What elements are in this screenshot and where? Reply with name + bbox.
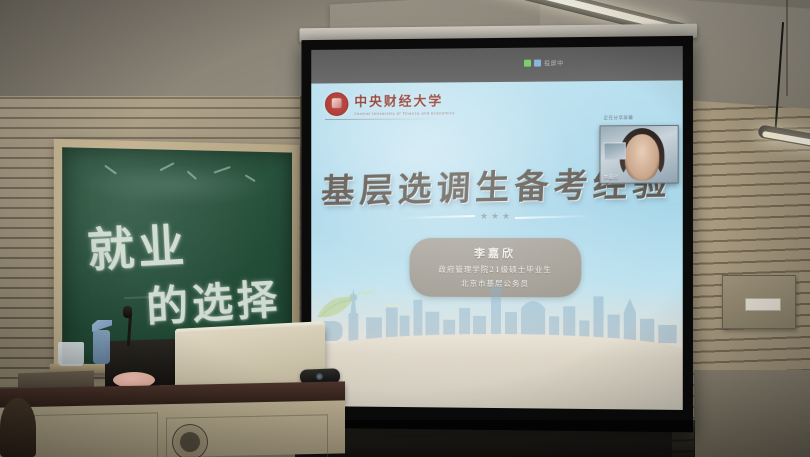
bird-graphic <box>382 301 400 312</box>
university-name-block: 中央财经大学 Central University of Finance and… <box>354 90 454 116</box>
projection-status-text: 投屏中 <box>544 58 564 67</box>
video-call-inset-thumbnail[interactable] <box>604 142 626 159</box>
side-cabinet <box>0 398 36 457</box>
spray-bottle <box>93 330 110 364</box>
university-emblem-icon <box>172 424 208 457</box>
wifi-icon <box>534 59 541 66</box>
divider-line-right <box>515 215 593 219</box>
university-logo-row: 中央财经大学 Central University of Finance and… <box>325 90 455 116</box>
lecture-hall-photo: 就业 的选择 投屏中 <box>0 0 810 457</box>
divider-stars: ★ ★ ★ <box>480 212 510 221</box>
slide-ground-band <box>311 333 683 410</box>
speaker-affiliation: 政府管理学院21级硕士毕业生 <box>415 264 575 275</box>
presentation-slide: 中央财经大学 Central University of Finance and… <box>311 80 683 410</box>
screen-lower-shadow <box>295 420 695 457</box>
blackboard-text-line-1: 就业 <box>85 209 189 281</box>
leaf-graphic <box>315 291 356 321</box>
speaker-name: 李嘉欣 <box>415 245 575 261</box>
projection-status-bar: 投屏中 <box>524 57 615 68</box>
microphone-icon <box>123 306 132 318</box>
chalk-smudge <box>77 162 275 207</box>
projected-image-area: 投屏中 中央财经大学 Central University of Finance… <box>311 46 683 410</box>
university-logo-icon <box>325 92 349 116</box>
projection-screen: 投屏中 中央财经大学 Central University of Finance… <box>298 24 698 435</box>
participant-face <box>625 134 660 181</box>
university-name-cn: 中央财经大学 <box>354 94 443 110</box>
bird-graphic <box>356 288 376 300</box>
ceiling-seam <box>786 0 788 96</box>
video-participant-name: 李嘉欣 <box>604 175 619 181</box>
slide-divider: ★ ★ ★ <box>311 210 683 224</box>
video-call-top-label: 正在分享屏幕 <box>604 115 634 121</box>
divider-line-left <box>398 215 475 219</box>
video-call-window[interactable]: 李嘉欣 <box>599 125 678 184</box>
university-name-en: Central University of Finance and Econom… <box>354 111 454 116</box>
notice-sticker <box>745 298 781 311</box>
logo-underline <box>325 118 443 120</box>
right-floor-area <box>694 370 810 457</box>
signal-icon <box>524 59 531 66</box>
cup <box>58 342 84 366</box>
screen-frame: 投屏中 中央财经大学 Central University of Finance… <box>301 36 693 433</box>
